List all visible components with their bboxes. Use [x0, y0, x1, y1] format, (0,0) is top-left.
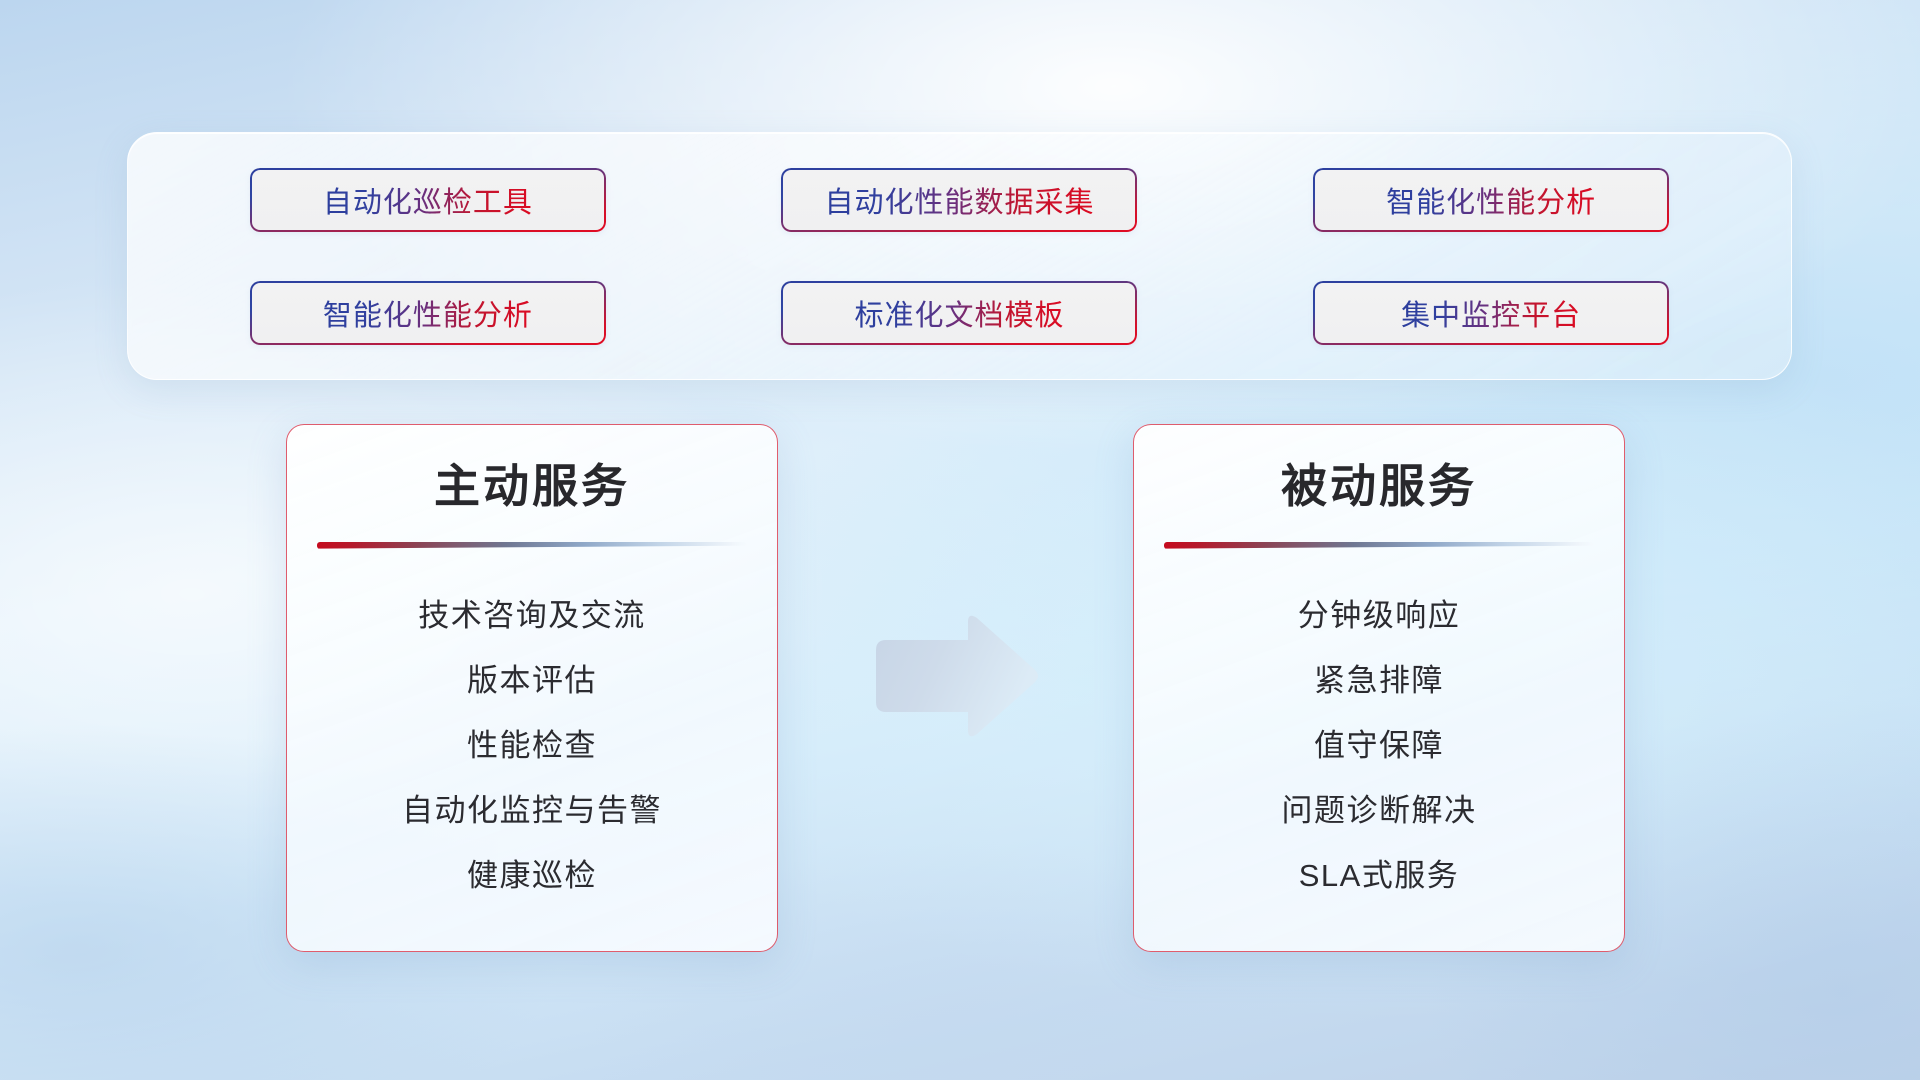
- service-card-title: 主动服务: [287, 425, 777, 512]
- capability-pill-6[interactable]: 集中监控平台: [1313, 281, 1669, 345]
- list-item: 性能检查: [287, 713, 777, 778]
- capability-pill-label: 集中监控平台: [1401, 292, 1581, 334]
- list-item: 分钟级响应: [1134, 583, 1624, 648]
- title-divider: [1164, 542, 1594, 549]
- flow-arrow-right-icon: [872, 612, 1040, 740]
- list-item: 值守保障: [1134, 713, 1624, 778]
- list-item: SLA式服务: [1134, 843, 1624, 908]
- capability-pill-2[interactable]: 自动化性能数据采集: [781, 168, 1137, 232]
- list-item: 健康巡检: [287, 843, 777, 908]
- capability-pill-label: 自动化巡检工具: [323, 179, 533, 221]
- capability-pill-5[interactable]: 标准化文档模板: [781, 281, 1137, 345]
- capability-pill-label: 智能化性能分析: [323, 292, 533, 334]
- capability-pill-4[interactable]: 智能化性能分析: [250, 281, 606, 345]
- capability-pill-grid: 自动化巡检工具 自动化性能数据采集 智能化性能分析 智能化性能分析 标准化文档模…: [128, 133, 1791, 379]
- capability-panel: 自动化巡检工具 自动化性能数据采集 智能化性能分析 智能化性能分析 标准化文档模…: [127, 132, 1792, 380]
- list-item: 自动化监控与告警: [287, 778, 777, 843]
- list-item: 问题诊断解决: [1134, 778, 1624, 843]
- service-card-reactive: 被动服务 分钟级响应 紧急排障 值守保障 问题诊断解决 SLA式服务: [1133, 424, 1625, 952]
- list-item: 紧急排障: [1134, 648, 1624, 713]
- capability-pill-label: 智能化性能分析: [1386, 179, 1596, 221]
- service-card-proactive: 主动服务 技术咨询及交流 版本评估 性能检查 自动化监控与告警 健康巡检: [286, 424, 778, 952]
- list-item: 版本评估: [287, 648, 777, 713]
- capability-pill-label: 自动化性能数据采集: [824, 179, 1094, 221]
- capability-pill-3[interactable]: 智能化性能分析: [1313, 168, 1669, 232]
- service-item-list: 分钟级响应 紧急排障 值守保障 问题诊断解决 SLA式服务: [1134, 549, 1624, 908]
- service-card-title: 被动服务: [1134, 425, 1624, 512]
- capability-pill-label: 标准化文档模板: [854, 292, 1064, 334]
- capability-pill-1[interactable]: 自动化巡检工具: [250, 168, 606, 232]
- service-item-list: 技术咨询及交流 版本评估 性能检查 自动化监控与告警 健康巡检: [287, 549, 777, 908]
- list-item: 技术咨询及交流: [287, 583, 777, 648]
- title-divider: [317, 542, 747, 549]
